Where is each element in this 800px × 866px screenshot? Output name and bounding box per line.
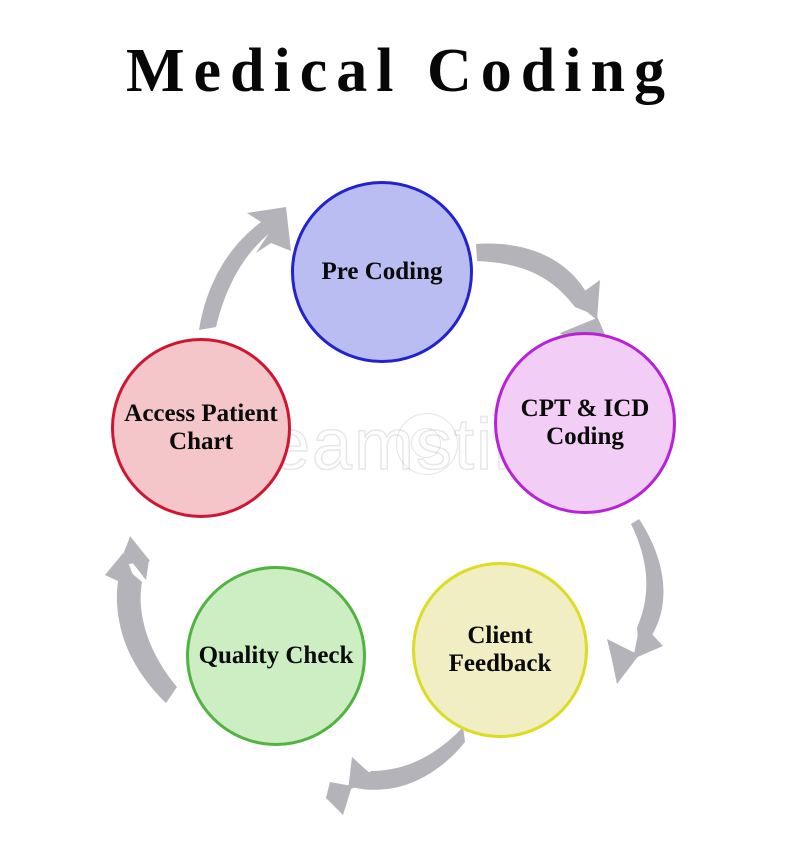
- node-label: Quality Check: [193, 642, 360, 670]
- node-label: CPT & ICD Coding: [497, 395, 673, 451]
- arrow-client-to-quality: [326, 727, 465, 815]
- node-cpt-icd-coding[interactable]: CPT & ICD Coding: [494, 332, 676, 514]
- arrow-access-to-pre: [199, 207, 291, 330]
- node-access-patient-chart[interactable]: Access Patient Chart: [111, 338, 291, 518]
- node-label: Access Patient Chart: [114, 400, 288, 456]
- node-client-feedback[interactable]: Client Feedback: [412, 562, 588, 738]
- node-label: Pre Coding: [315, 258, 448, 286]
- diagram-canvas: Medical Coding: [0, 0, 800, 866]
- node-quality-check[interactable]: Quality Check: [186, 566, 366, 746]
- node-label: Client Feedback: [415, 622, 585, 678]
- node-pre-coding[interactable]: Pre Coding: [291, 181, 473, 363]
- arrow-cpt-to-client: [607, 519, 663, 684]
- arrow-quality-to-access: [105, 536, 177, 703]
